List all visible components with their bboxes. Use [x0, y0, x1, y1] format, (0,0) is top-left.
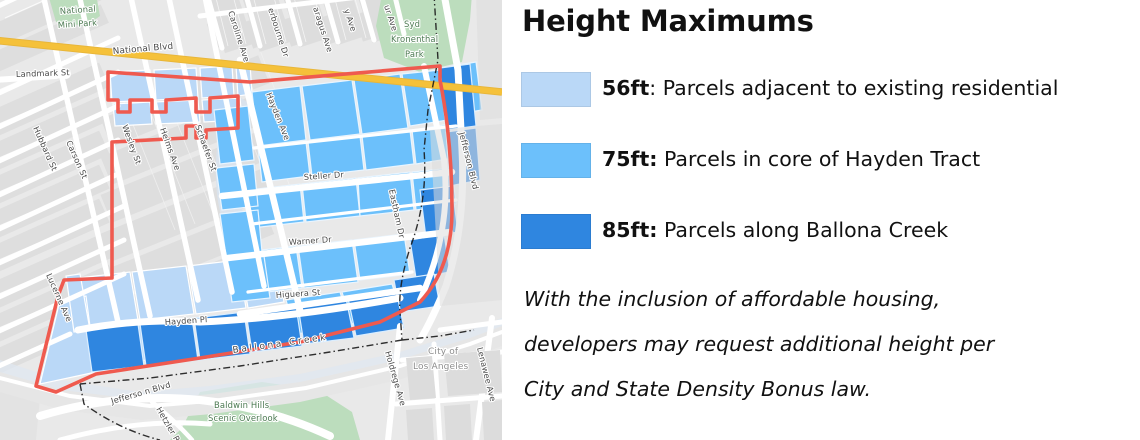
- label-syd-kronenthal-park-2: Kronenthal: [391, 34, 438, 44]
- map-canvas[interactable]: NationalMini ParkNational BlvdLandmark S…: [0, 0, 502, 440]
- legend-label-85ft: 85ft: Parcels along Ballona Creek: [602, 211, 948, 249]
- label-baldwin-hills-2: Scenic Overlook: [208, 413, 278, 423]
- zoning-map[interactable]: NationalMini ParkNational BlvdLandmark S…: [0, 0, 502, 440]
- legend-item-56ft[interactable]: 56ft: Parcels adjacent to existing resid…: [502, 69, 1140, 109]
- legend-label-75ft: 75ft: Parcels in core of Hayden Tract: [602, 140, 980, 178]
- note-line-1: With the inclusion of affordable housing…: [524, 277, 1136, 322]
- legend-swatch-56ft: [521, 72, 591, 107]
- legend-swatch-75ft: [521, 143, 591, 178]
- label-syd-kronenthal-park-3: Park: [405, 49, 424, 59]
- legend-desc-56ft: Parcels adjacent to existing residential: [656, 76, 1058, 100]
- label-baldwin-hills-1: Baldwin Hills: [214, 400, 269, 410]
- legend-item-85ft[interactable]: 85ft: Parcels along Ballona Creek: [502, 211, 1140, 251]
- legend-desc-85ft: Parcels along Ballona Creek: [657, 218, 948, 242]
- legend-swatch-85ft: [521, 214, 591, 249]
- label-syd-kronenthal-park-1: Syd: [404, 19, 420, 29]
- note-line-2: developers may request additional height…: [524, 322, 1136, 367]
- label-landmark-st: Landmark St: [16, 67, 71, 79]
- label-city-of-los-angeles-1: City of: [428, 347, 459, 357]
- label-city-of-los-angeles-2: Los Angeles: [413, 362, 469, 372]
- legend-amount-75ft: 75ft:: [602, 147, 657, 171]
- page-title: Height Maximums: [522, 4, 814, 38]
- legend-amount-56ft: 56ft: [602, 76, 649, 100]
- legend-panel: Height Maximums 56ft: Parcels adjacent t…: [502, 0, 1140, 440]
- legend-desc-75ft: Parcels in core of Hayden Tract: [657, 147, 980, 171]
- density-bonus-note: With the inclusion of affordable housing…: [524, 277, 1136, 412]
- legend-item-75ft[interactable]: 75ft: Parcels in core of Hayden Tract: [502, 140, 1140, 180]
- legend-amount-85ft: 85ft:: [602, 218, 657, 242]
- legend-label-56ft: 56ft: Parcels adjacent to existing resid…: [602, 69, 1058, 107]
- zoning-map-infographic: NationalMini ParkNational BlvdLandmark S…: [0, 0, 1140, 440]
- note-line-3: City and State Density Bonus law.: [524, 367, 1136, 412]
